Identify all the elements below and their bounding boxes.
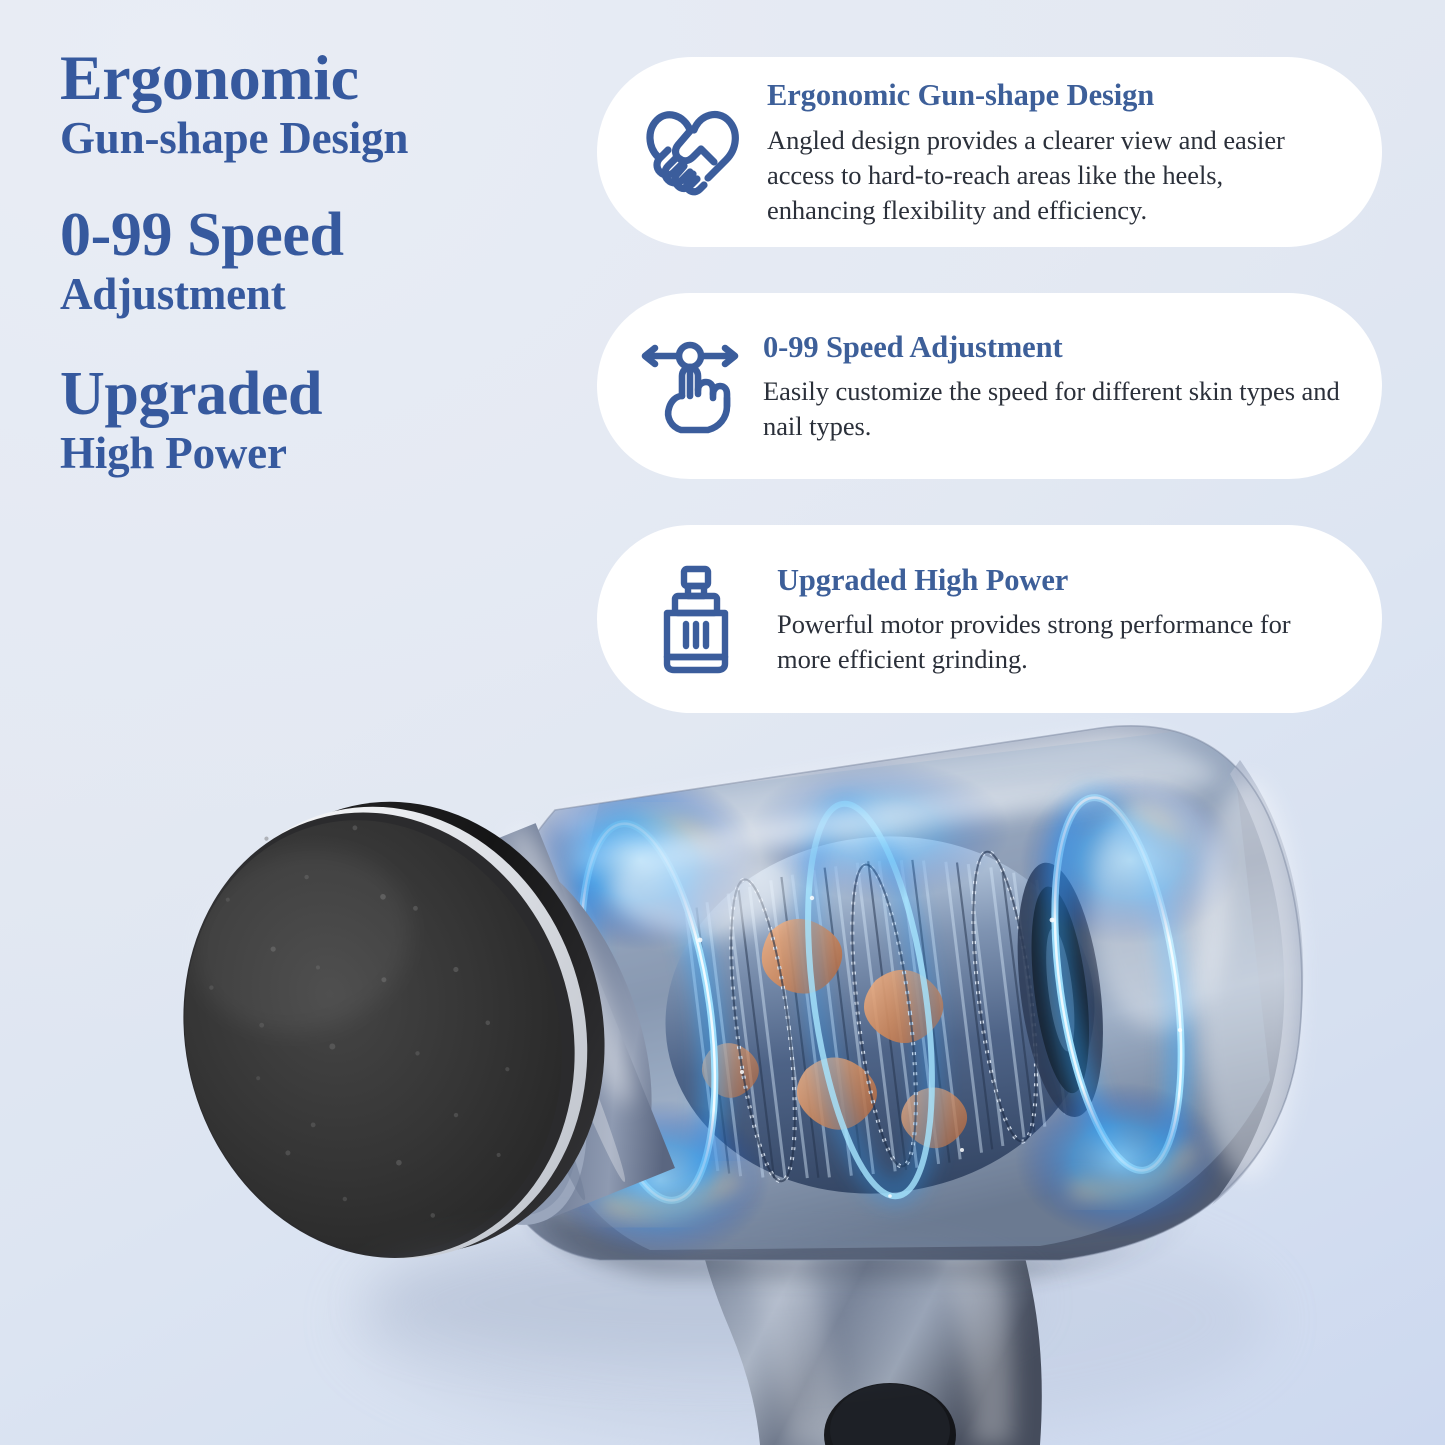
feature-card-description: Angled design provides a clearer view an…: [767, 123, 1332, 228]
feature-card-description: Easily customize the speed for different…: [763, 374, 1342, 444]
handshake-heart-icon: [631, 93, 753, 211]
headline-minor-3: High Power: [60, 427, 580, 480]
motor-icon: [641, 560, 751, 678]
headline-column: Ergonomic Gun-shape Design 0-99 Speed Ad…: [60, 44, 580, 480]
feature-card-title: Upgraded High Power: [777, 563, 1342, 597]
headline-major-2: 0-99 Speed: [60, 202, 580, 268]
feature-card: 0-99 Speed Adjustment Easily customize t…: [597, 293, 1382, 479]
infographic-page: Ergonomic Gun-shape Design 0-99 Speed Ad…: [0, 0, 1445, 1445]
feature-card-body: 0-99 Speed Adjustment Easily customize t…: [763, 328, 1342, 444]
headline-minor-1: Gun-shape Design: [60, 112, 580, 165]
headline-minor-2: Adjustment: [60, 268, 580, 321]
headline-block-3: Upgraded High Power: [60, 361, 580, 480]
feature-card: Upgraded High Power Powerful motor provi…: [597, 525, 1382, 713]
feature-card-list: Ergonomic Gun-shape Design Angled design…: [597, 57, 1382, 713]
headline-block-1: Ergonomic Gun-shape Design: [60, 44, 580, 166]
feature-card-title: Ergonomic Gun-shape Design: [767, 78, 1332, 112]
hand-slider-adjust-icon: [631, 327, 749, 445]
feature-card-body: Ergonomic Gun-shape Design Angled design…: [767, 76, 1342, 227]
headline-major-1: Ergonomic: [60, 44, 580, 112]
headline-major-3: Upgraded: [60, 361, 580, 427]
feature-card-title: 0-99 Speed Adjustment: [763, 330, 1342, 364]
feature-card-body: Upgraded High Power Powerful motor provi…: [777, 561, 1342, 677]
headline-block-2: 0-99 Speed Adjustment: [60, 202, 580, 321]
feature-card: Ergonomic Gun-shape Design Angled design…: [597, 57, 1382, 247]
feature-card-description: Powerful motor provides strong performan…: [777, 607, 1342, 677]
